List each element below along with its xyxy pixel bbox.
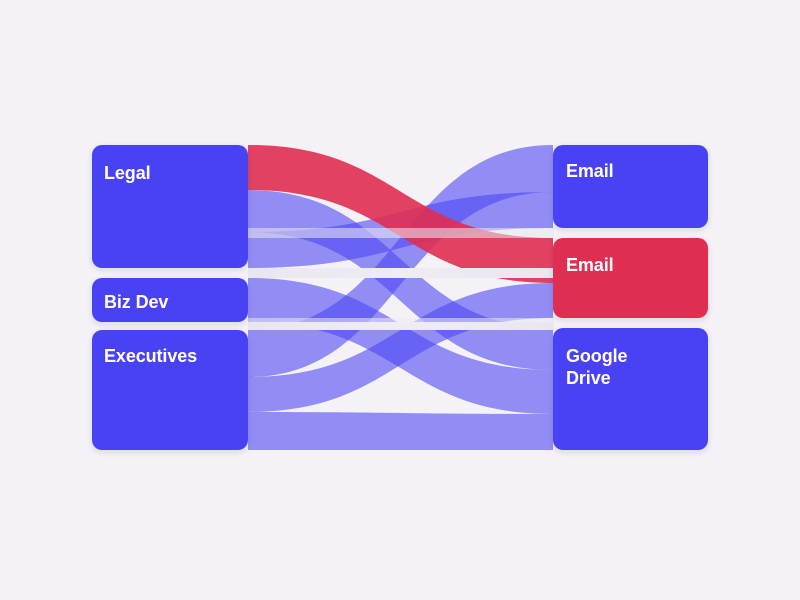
link-executives-to-google-drive[interactable] xyxy=(248,412,553,450)
node-google-drive[interactable]: Google Drive xyxy=(553,328,708,450)
sankey-canvas: Legal Biz Dev Executives Email Email xyxy=(0,0,800,600)
node-email-blue-label: Email xyxy=(566,161,614,181)
node-email-red-rect[interactable] xyxy=(553,238,708,318)
sankey-nodes-left: Legal Biz Dev Executives xyxy=(92,145,248,450)
node-legal[interactable]: Legal xyxy=(92,145,248,268)
node-legal-label: Legal xyxy=(104,163,151,183)
node-email-blue-rect[interactable] xyxy=(553,145,708,228)
node-executives-label: Executives xyxy=(104,346,197,366)
gap-right-2 xyxy=(248,318,554,328)
node-executives[interactable]: Executives xyxy=(92,330,248,450)
gap-left-1 xyxy=(248,268,554,278)
sankey-diagram: Legal Biz Dev Executives Email Email xyxy=(0,0,800,600)
sankey-links xyxy=(248,145,553,450)
node-email-blue[interactable]: Email xyxy=(553,145,708,228)
gap-right-1 xyxy=(248,228,554,238)
node-email-red[interactable]: Email xyxy=(553,238,708,318)
node-email-red-label: Email xyxy=(566,255,614,275)
node-biz-dev-label: Biz Dev xyxy=(104,292,168,312)
node-biz-dev[interactable]: Biz Dev xyxy=(92,278,248,322)
node-google-drive-label-line1: Google xyxy=(566,346,627,366)
node-google-drive-label-line2: Drive xyxy=(566,368,611,388)
sankey-nodes-right: Email Email Google Drive xyxy=(553,145,708,450)
